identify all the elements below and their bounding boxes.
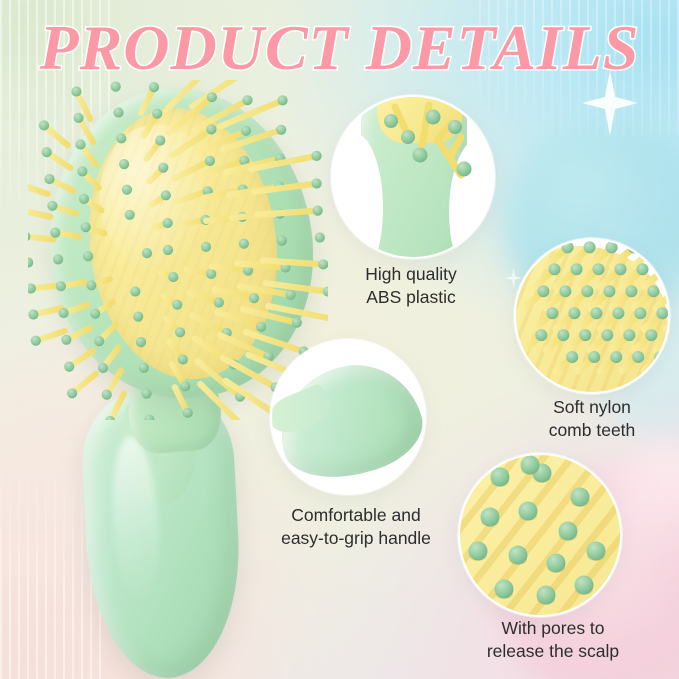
caption-scalp-pores: With pores to release the scalp xyxy=(463,617,643,664)
caption-grip-handle: Comfortable and easy-to-grip handle xyxy=(258,504,454,551)
callout-scalp-pores[interactable] xyxy=(458,453,622,617)
product-hair-brush xyxy=(28,88,318,658)
caption-line-2: comb teeth xyxy=(510,419,674,442)
caption-line-1: With pores to xyxy=(463,617,643,640)
callout-grip-handle[interactable] xyxy=(270,339,426,495)
caption-line-1: Comfortable and xyxy=(258,504,454,527)
callout-nylon-teeth[interactable] xyxy=(514,238,670,394)
caption-line-2: release the scalp xyxy=(463,640,643,663)
callout-abs-plastic[interactable] xyxy=(331,95,495,259)
caption-line-2: easy-to-grip handle xyxy=(258,527,454,550)
caption-nylon-teeth: Soft nylon comb teeth xyxy=(510,396,674,443)
callout-bristle-tips-1 xyxy=(333,97,493,257)
caption-line-1: High quality xyxy=(327,263,495,286)
caption-line-1: Soft nylon xyxy=(510,396,674,419)
callout-bristles-2 xyxy=(516,240,668,392)
caption-abs-plastic: High quality ABS plastic xyxy=(327,263,495,310)
page-title: PRODUCT DETAILS xyxy=(0,16,679,80)
brush-bristles xyxy=(28,80,328,420)
caption-line-2: ABS plastic xyxy=(327,286,495,309)
callout-pore-tips-4 xyxy=(460,455,620,615)
product-details-infographic: PRODUCT DETAILS PRODUCT DETAILS xyxy=(0,0,679,679)
